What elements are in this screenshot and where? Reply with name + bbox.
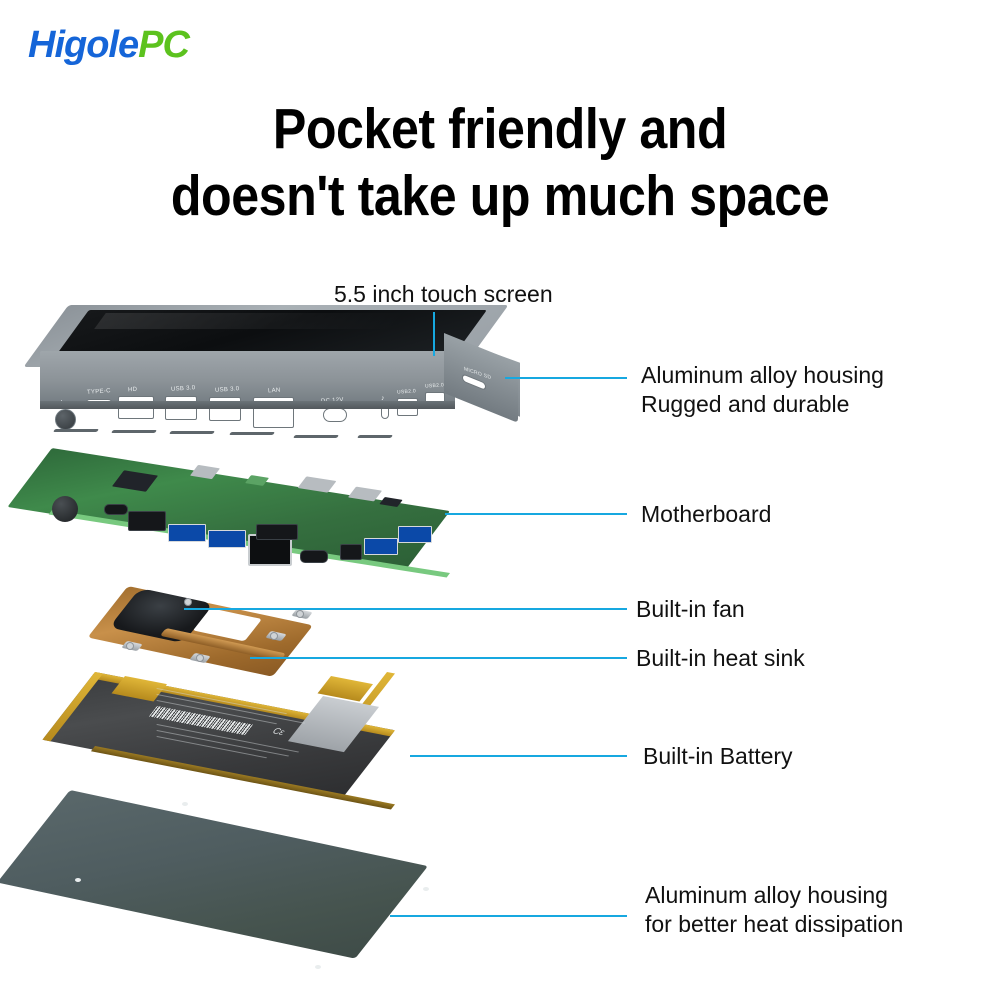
vent-slot bbox=[169, 431, 215, 434]
power-button bbox=[55, 409, 76, 430]
board-usb2-port-a bbox=[364, 538, 398, 555]
leader-line-motherboard bbox=[445, 513, 627, 515]
callout-battery: Built-in Battery bbox=[643, 742, 793, 771]
bottom-plate-assembly bbox=[70, 790, 470, 970]
leader-line-battery bbox=[410, 755, 627, 757]
board-dc-jack bbox=[300, 550, 328, 563]
housing-base-shadow bbox=[40, 401, 455, 409]
screw-hole bbox=[315, 965, 321, 969]
brand-logo: HigolePC bbox=[28, 24, 189, 67]
screw-hole bbox=[182, 802, 188, 806]
board-audio-jack bbox=[340, 544, 362, 560]
board-usb3-port-b bbox=[208, 530, 246, 548]
vent-slot bbox=[357, 435, 393, 438]
callout-heatsink: Built-in heat sink bbox=[636, 644, 805, 673]
screw bbox=[126, 642, 134, 650]
callout-housing-top: Aluminum alloy housing Rugged and durabl… bbox=[641, 361, 884, 420]
screw bbox=[184, 598, 192, 606]
board-type-c-port bbox=[104, 504, 128, 515]
callout-motherboard: Motherboard bbox=[641, 500, 771, 529]
port-label-usb2-b: USB2.0 bbox=[425, 382, 444, 389]
leader-line-screen bbox=[433, 312, 435, 356]
vent-slot bbox=[111, 430, 157, 433]
vent-slot bbox=[229, 432, 275, 435]
screw bbox=[196, 654, 204, 662]
port-label-type-c: TYPE-C bbox=[87, 388, 111, 396]
page-title: Pocket friendly and doesn't take up much… bbox=[60, 96, 940, 229]
screw bbox=[296, 610, 304, 618]
board-usb2-port-b bbox=[398, 526, 432, 543]
callout-housing-bottom-line1: Aluminum alloy housing bbox=[645, 881, 903, 910]
brand-logo-secondary: PC bbox=[138, 24, 189, 66]
page-title-line1: Pocket friendly and bbox=[60, 96, 940, 163]
port-label-hd: HD bbox=[128, 387, 138, 394]
page-title-line2: doesn't take up much space bbox=[60, 163, 940, 230]
screw-hole bbox=[423, 887, 429, 891]
battery-assembly: Cε bbox=[95, 672, 425, 792]
leader-line-heatsink bbox=[250, 657, 627, 659]
poster-canvas: HigolePC Pocket friendly and doesn't tak… bbox=[0, 0, 1000, 1000]
screen-glare bbox=[94, 313, 406, 329]
port-label-lan: LAN bbox=[268, 388, 281, 395]
callout-fan: Built-in fan bbox=[636, 595, 745, 624]
lan-transformer bbox=[256, 524, 298, 540]
housing-front-face: ⏻ TYPE-C HD USB 3.0 USB 3.0 LAN DC 12V ♪… bbox=[40, 351, 455, 407]
port-label-usb2-a: USB2.0 bbox=[397, 388, 416, 395]
callout-housing-bottom: Aluminum alloy housing for better heat d… bbox=[645, 881, 903, 940]
board-usb3-port-a bbox=[168, 524, 206, 542]
callout-housing-bottom-line2: for better heat dissipation bbox=[645, 910, 903, 939]
port-label-usb3-b: USB 3.0 bbox=[215, 386, 240, 394]
motherboard-assembly bbox=[52, 448, 472, 578]
top-housing-assembly: ⏻ TYPE-C HD USB 3.0 USB 3.0 LAN DC 12V ♪… bbox=[40, 305, 520, 455]
board-hdmi-port bbox=[128, 511, 166, 531]
cooling-assembly bbox=[118, 580, 348, 675]
vent-slot bbox=[53, 429, 99, 432]
leader-line-bottom-plate bbox=[390, 915, 627, 917]
leader-line-housing-top bbox=[505, 377, 627, 379]
port-label-usb3-a: USB 3.0 bbox=[171, 385, 196, 393]
screw bbox=[270, 632, 278, 640]
vent-slot bbox=[293, 435, 339, 438]
bottom-plate bbox=[0, 790, 428, 959]
callout-housing-top-line1: Aluminum alloy housing bbox=[641, 361, 884, 390]
screw-hole bbox=[75, 878, 81, 882]
rtc-battery bbox=[52, 496, 78, 522]
leader-line-fan bbox=[184, 608, 627, 610]
callout-screen: 5.5 inch touch screen bbox=[334, 280, 553, 309]
brand-logo-primary: Higole bbox=[28, 24, 138, 66]
port-dc-12v bbox=[323, 408, 347, 422]
callout-housing-top-line2: Rugged and durable bbox=[641, 390, 884, 419]
